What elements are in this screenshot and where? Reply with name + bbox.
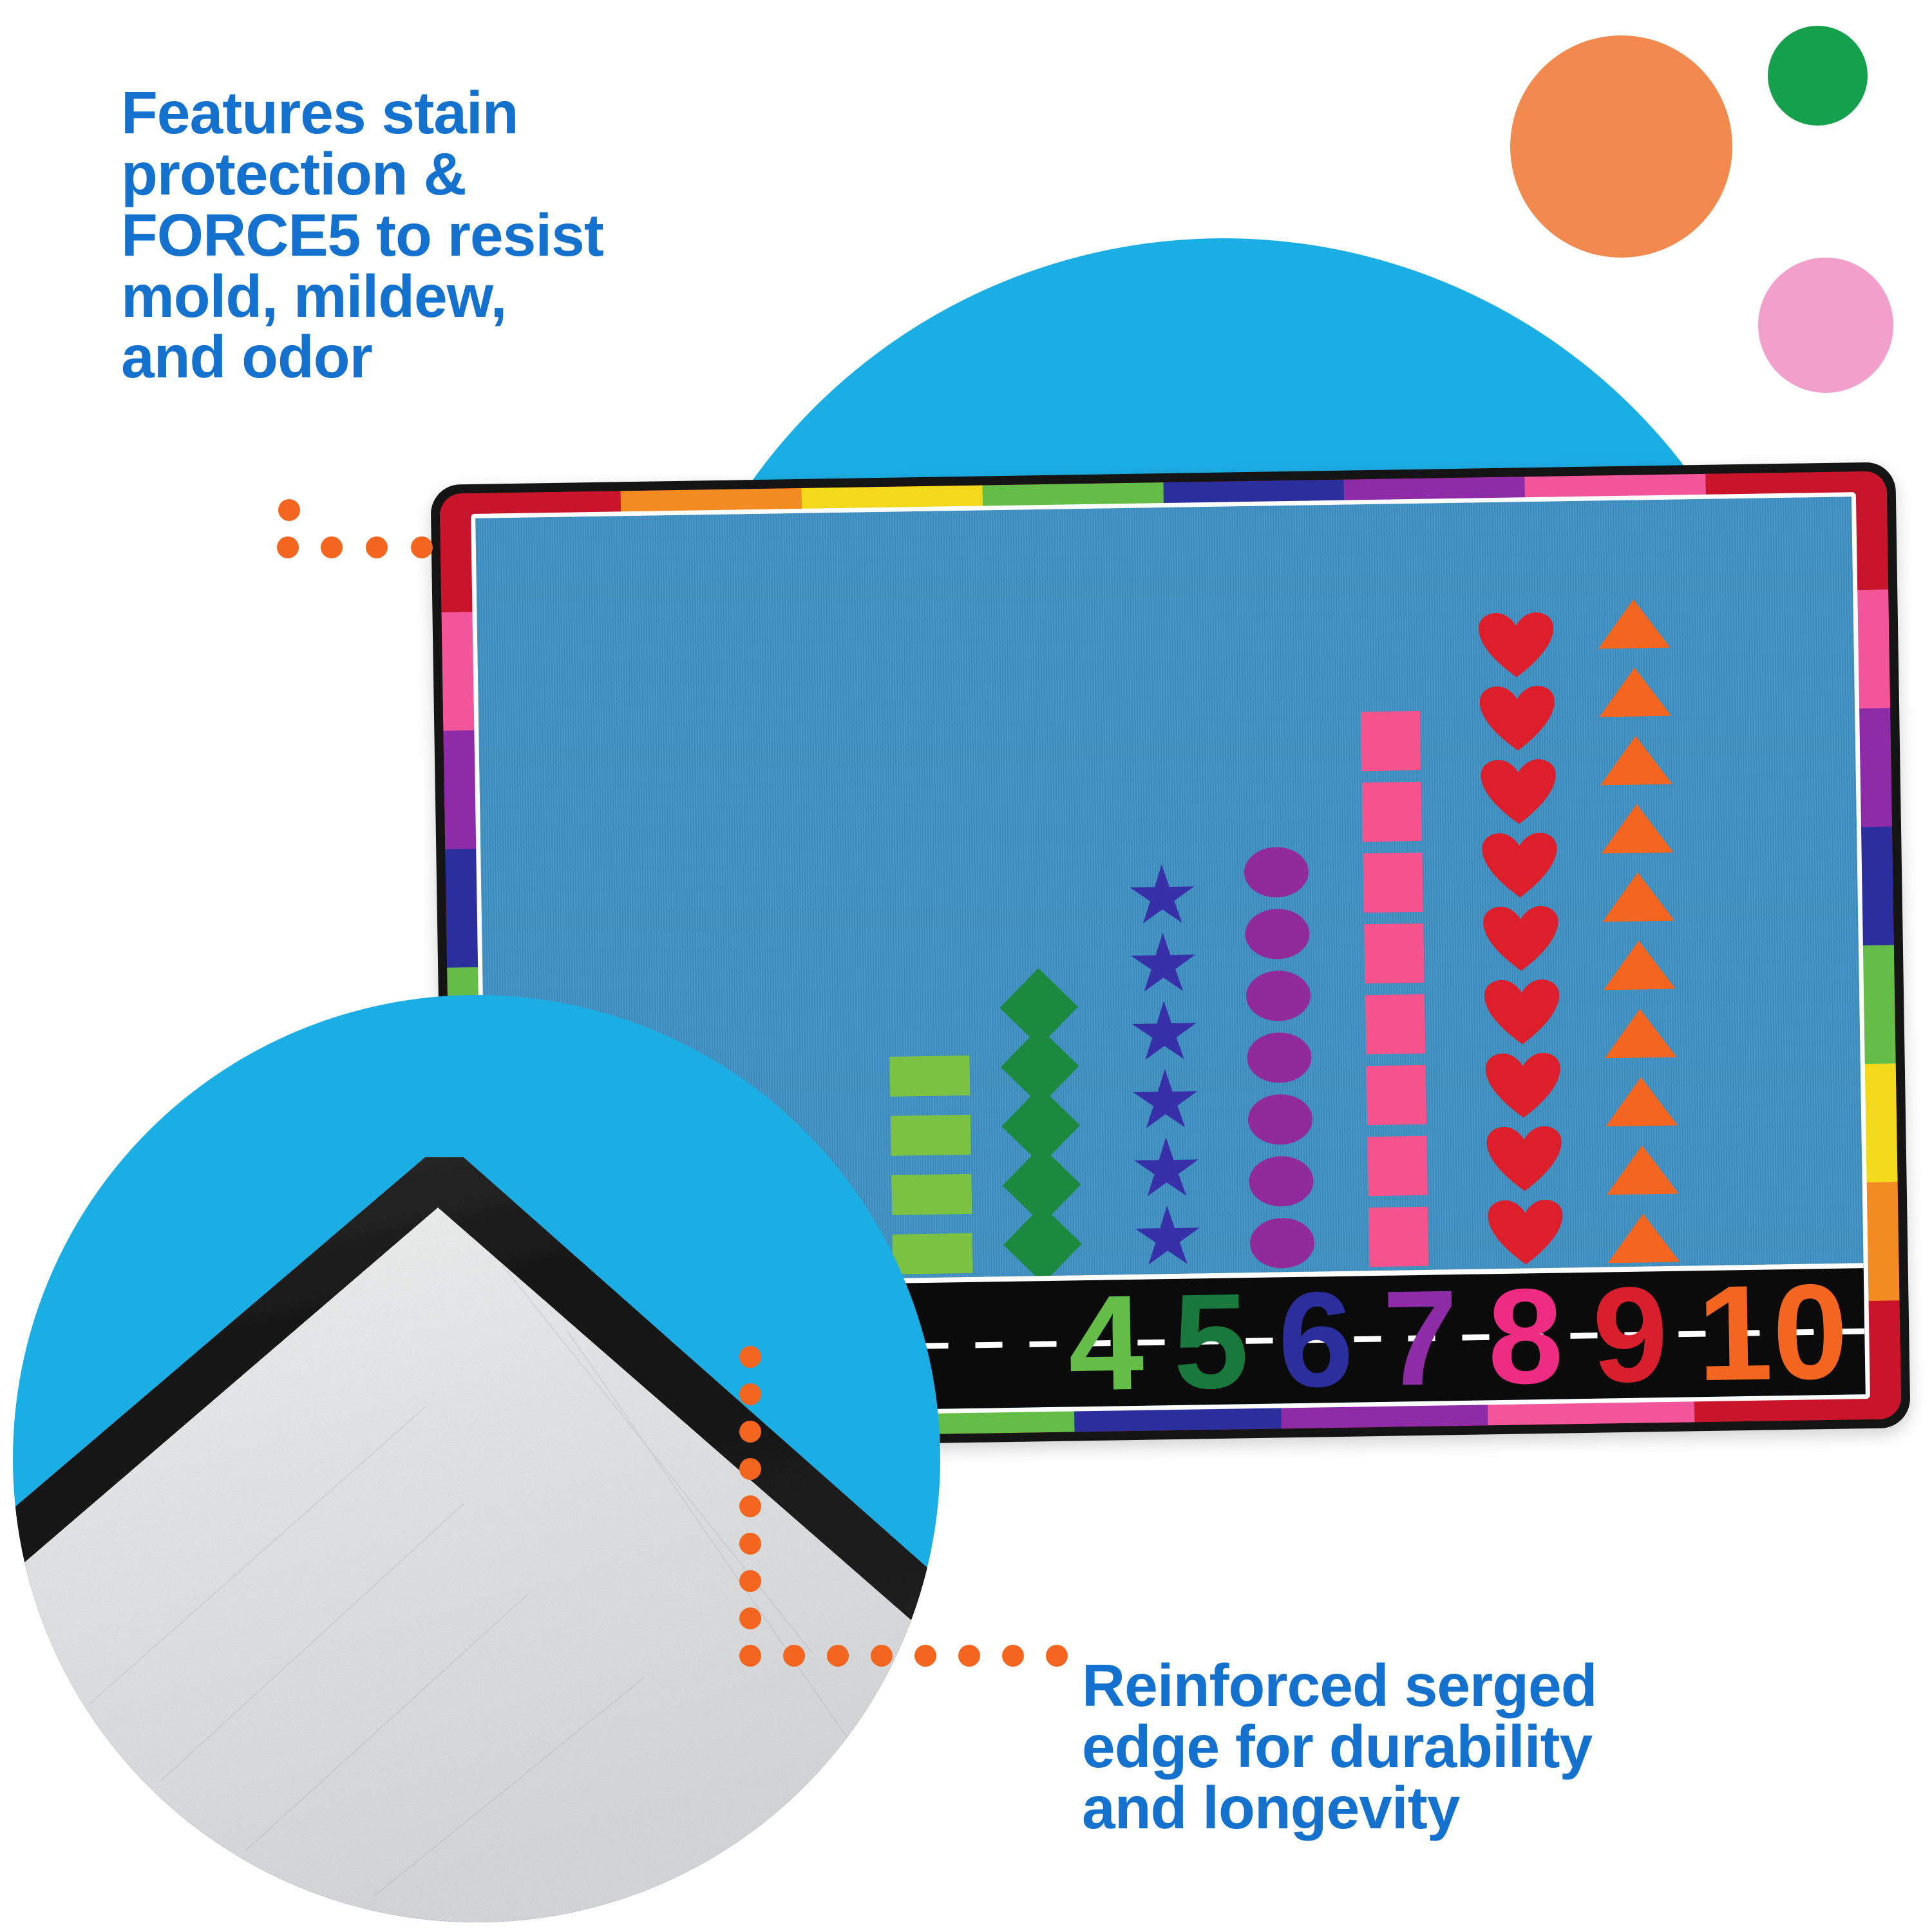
square-shape-icon xyxy=(1363,853,1423,913)
callout-line: protection & xyxy=(121,144,739,205)
square-shape-icon xyxy=(1368,1207,1428,1267)
callout-line: and longevity xyxy=(1082,1777,1829,1839)
oval-shape-icon xyxy=(1245,909,1310,960)
heart-shape-icon xyxy=(1485,1053,1561,1119)
blue-star-column xyxy=(1128,864,1202,1271)
triangle-shape-icon xyxy=(1600,735,1672,786)
triangle-shape-icon xyxy=(1605,1077,1678,1127)
rug-number-6: 6 xyxy=(1277,1287,1354,1394)
heart-shape-icon xyxy=(1479,612,1555,678)
oval-shape-icon xyxy=(1249,1218,1314,1269)
triangle-shape-icon xyxy=(1604,1009,1676,1059)
leader-dot-bottom xyxy=(914,1645,936,1667)
leader-dot-bottom xyxy=(739,1645,761,1667)
leader-dot-bottom xyxy=(739,1383,761,1405)
leader-dot-top xyxy=(411,536,433,558)
star-shape-icon xyxy=(1128,864,1197,929)
orange-triangle-column xyxy=(1597,599,1680,1264)
heart-shape-icon xyxy=(1488,1199,1564,1265)
leader-dot-bottom xyxy=(739,1570,761,1592)
leader-dot-bottom xyxy=(783,1645,805,1667)
pink-square-column xyxy=(1361,711,1429,1267)
square-shape-icon xyxy=(1361,711,1421,771)
heart-shape-icon xyxy=(1481,759,1557,825)
leader-dot-bottom xyxy=(739,1607,761,1629)
leader-dot-top xyxy=(366,536,388,558)
rug-number-10: 10 xyxy=(1696,1279,1848,1387)
green-circle xyxy=(1768,26,1868,126)
star-shape-icon xyxy=(1130,1000,1198,1066)
heart-shape-icon xyxy=(1486,1126,1562,1192)
oval-shape-icon xyxy=(1244,847,1309,898)
callout-line: mold, mildew, xyxy=(121,266,739,327)
rug-number-8: 8 xyxy=(1487,1283,1564,1390)
leader-dot-bottom xyxy=(739,1421,761,1443)
oval-shape-icon xyxy=(1247,1094,1312,1146)
dark-green-diamond-column xyxy=(1011,980,1071,1273)
pink-circle xyxy=(1758,258,1893,393)
leader-dot-bottom xyxy=(1002,1645,1024,1667)
callout-line: Features stain xyxy=(121,82,739,144)
carpet-backing-photo xyxy=(13,995,940,1922)
leader-dot-bottom xyxy=(1046,1645,1068,1667)
leader-dot-top xyxy=(278,499,300,521)
triangle-shape-icon xyxy=(1603,940,1676,990)
rug-number-5: 5 xyxy=(1173,1288,1249,1395)
star-shape-icon xyxy=(1132,1137,1200,1202)
triangle-shape-icon xyxy=(1597,599,1670,649)
square-shape-icon xyxy=(1367,1065,1426,1125)
heart-shape-icon xyxy=(1484,980,1560,1045)
infographic-canvas: 45678910 xyxy=(0,0,1932,1932)
star-shape-icon xyxy=(1133,1205,1202,1271)
rug-number-7: 7 xyxy=(1382,1285,1459,1392)
red-heart-column xyxy=(1479,612,1564,1265)
rug-number-9: 9 xyxy=(1592,1282,1669,1388)
callout-text-serged-edge: Reinforced serged edge for durability an… xyxy=(1082,1655,1829,1839)
leader-dot-top xyxy=(321,536,343,558)
leader-dot-bottom xyxy=(739,1458,761,1480)
orange-circle xyxy=(1510,35,1732,258)
heart-shape-icon xyxy=(1479,686,1555,752)
rug-number-4: 4 xyxy=(1068,1290,1144,1397)
oval-shape-icon xyxy=(1249,1156,1314,1207)
leader-dot-bottom xyxy=(958,1645,980,1667)
star-shape-icon xyxy=(1129,932,1197,998)
leader-dot-bottom xyxy=(739,1533,761,1555)
leader-dot-bottom xyxy=(871,1645,893,1667)
triangle-shape-icon xyxy=(1598,667,1671,717)
triangle-shape-icon xyxy=(1607,1213,1680,1264)
square-shape-icon xyxy=(1365,994,1425,1054)
oval-shape-icon xyxy=(1247,1032,1312,1084)
purple-oval-column xyxy=(1244,847,1314,1269)
triangle-shape-icon xyxy=(1602,872,1674,922)
star-shape-icon xyxy=(1132,1068,1200,1134)
callout-line: Reinforced serged xyxy=(1082,1655,1829,1716)
leader-dot-bottom xyxy=(827,1645,849,1667)
leader-dot-bottom xyxy=(739,1495,761,1517)
leader-dot-bottom xyxy=(739,1346,761,1368)
serged-edge-closeup xyxy=(13,995,940,1922)
square-shape-icon xyxy=(1367,1136,1427,1196)
triangle-shape-icon xyxy=(1606,1145,1679,1195)
oval-shape-icon xyxy=(1245,971,1311,1022)
triangle-shape-icon xyxy=(1600,804,1673,854)
heart-shape-icon xyxy=(1482,833,1558,898)
callout-line: FORCE5 to resist xyxy=(121,205,739,266)
callout-line: and odor xyxy=(121,327,739,388)
heart-shape-icon xyxy=(1483,906,1559,972)
callout-line: edge for durability xyxy=(1082,1716,1829,1777)
square-shape-icon xyxy=(1364,923,1424,983)
leader-dot-top xyxy=(277,536,299,558)
square-shape-icon xyxy=(1362,782,1422,842)
callout-text-stain-protection: Features stain protection & FORCE5 to re… xyxy=(121,82,739,388)
